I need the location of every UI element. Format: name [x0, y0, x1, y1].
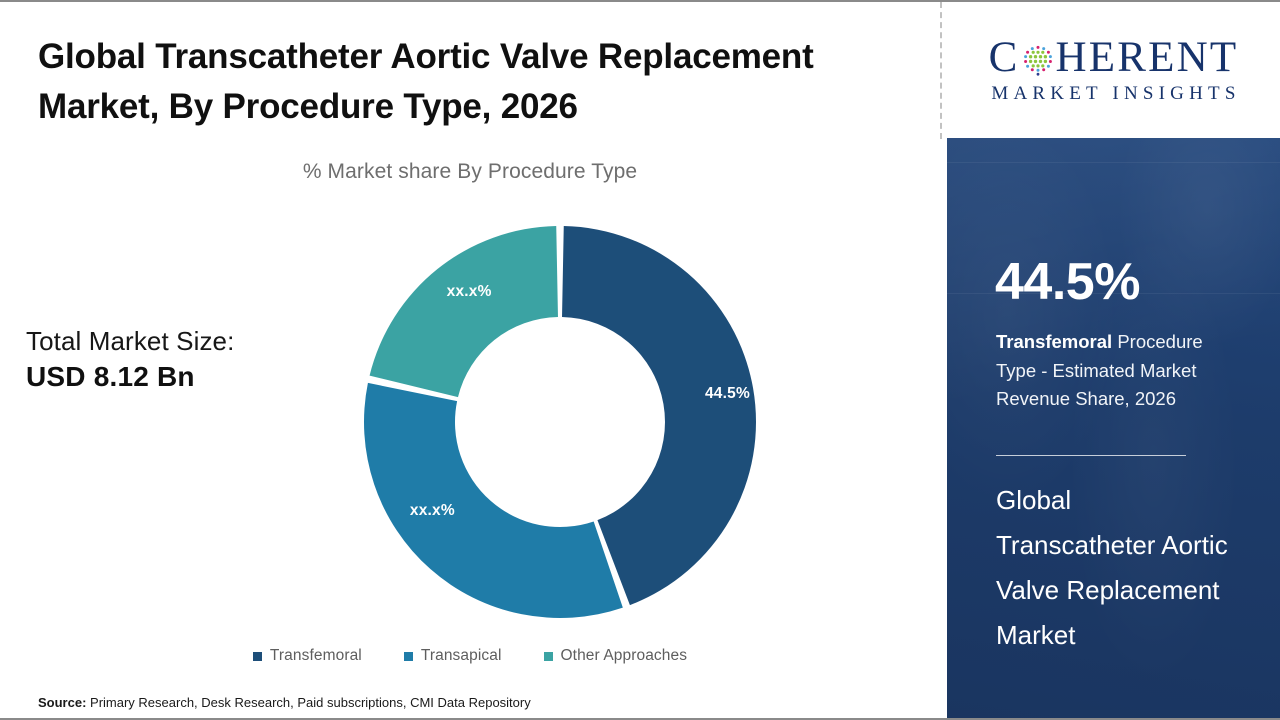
- page-title-line-1: Global Transcatheter Aortic Valve Replac…: [38, 32, 898, 82]
- donut-slice-label: xx.x%: [447, 283, 492, 300]
- chart-legend: TransfemoralTransapicalOther Approaches: [0, 647, 940, 665]
- panel-report-title: Global Transcatheter Aortic Valve Replac…: [996, 478, 1236, 658]
- donut-slice-label: 44.5%: [705, 385, 750, 402]
- source-text: Primary Research, Desk Research, Paid su…: [86, 695, 530, 710]
- brand-logo[interactable]: C: [947, 2, 1280, 138]
- highlight-panel: 44.5% Transfemoral Procedure Type - Esti…: [947, 138, 1280, 720]
- brand-logo-wordmark: C: [989, 36, 1239, 79]
- stat-description-highlight: Transfemoral: [996, 331, 1112, 352]
- panel-divider-rule: [996, 455, 1186, 456]
- legend-swatch-icon: [253, 652, 262, 661]
- donut-slice[interactable]: [364, 383, 623, 618]
- highlight-panel-content: 44.5% Transfemoral Procedure Type - Esti…: [995, 138, 1263, 720]
- legend-swatch-icon: [544, 652, 553, 661]
- chart-pane: Global Transcatheter Aortic Valve Replac…: [0, 2, 940, 720]
- legend-swatch-icon: [404, 652, 413, 661]
- stat-value: 44.5%: [995, 256, 1140, 308]
- source-label: Source:: [38, 695, 86, 710]
- total-market-size-value: USD 8.12 Bn: [26, 359, 356, 396]
- legend-item[interactable]: Transapical: [404, 647, 502, 665]
- legend-label: Transfemoral: [270, 647, 362, 665]
- legend-label: Transapical: [421, 647, 502, 665]
- stat-description: Transfemoral Procedure Type - Estimated …: [996, 328, 1246, 414]
- chart-subtitle: % Market share By Procedure Type: [0, 160, 940, 184]
- page-title: Global Transcatheter Aortic Valve Replac…: [38, 32, 898, 133]
- donut-chart-svg: 44.5%xx.x%xx.x%: [359, 221, 761, 623]
- donut-slice-label: xx.x%: [410, 502, 455, 519]
- donut-slice[interactable]: [370, 226, 558, 397]
- legend-item[interactable]: Transfemoral: [253, 647, 362, 665]
- source-note: Source: Primary Research, Desk Research,…: [38, 695, 531, 710]
- infographic-page: Global Transcatheter Aortic Valve Replac…: [0, 0, 1280, 720]
- globe-dots-icon: [1021, 42, 1055, 76]
- page-title-line-2: Market, By Procedure Type, 2026: [38, 82, 898, 132]
- brand-tagline: MARKET INSIGHTS: [986, 83, 1240, 105]
- brand-name-rest: HERENT: [1056, 36, 1239, 79]
- side-panel: C: [947, 2, 1280, 720]
- vertical-dashed-divider: [940, 2, 942, 139]
- total-market-size: Total Market Size: USD 8.12 Bn: [26, 324, 356, 396]
- total-market-size-label: Total Market Size:: [26, 324, 356, 359]
- legend-item[interactable]: Other Approaches: [544, 647, 688, 665]
- legend-label: Other Approaches: [561, 647, 688, 665]
- brand-name-c: C: [989, 36, 1020, 79]
- donut-chart: 44.5%xx.x%xx.x%: [359, 221, 761, 623]
